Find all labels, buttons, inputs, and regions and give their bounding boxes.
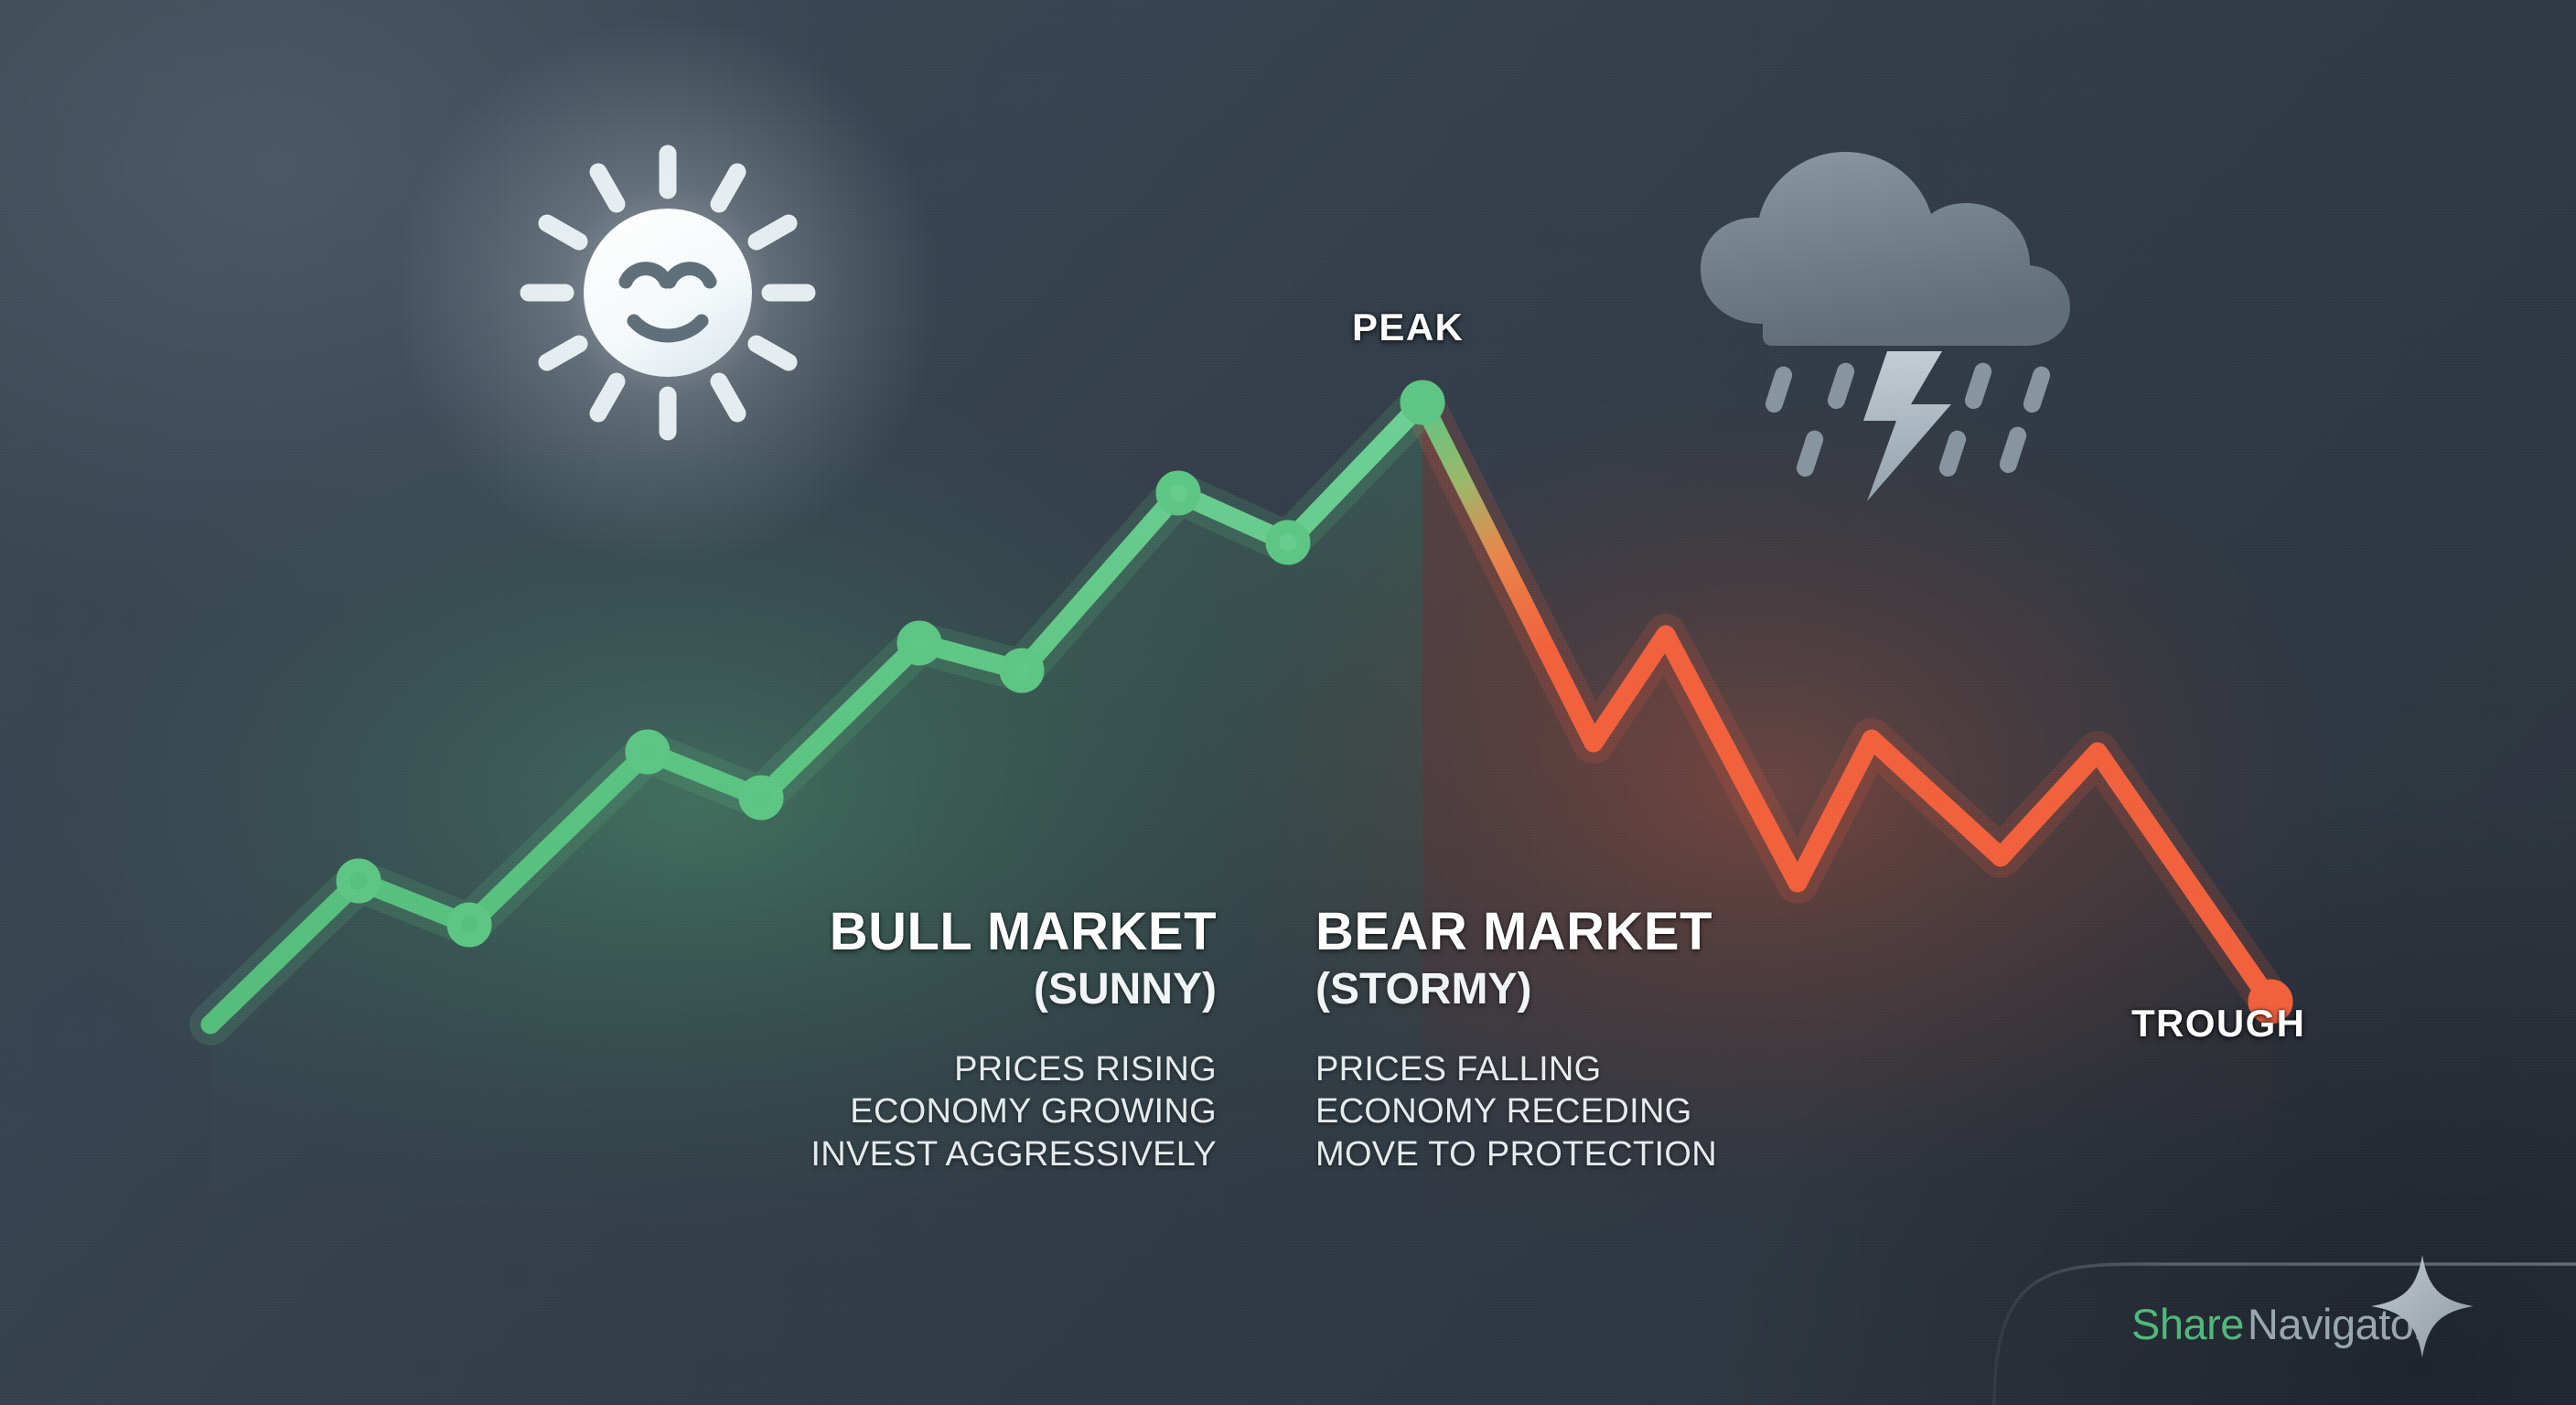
bull-market-heading: BULL MARKET xyxy=(0,906,1217,959)
bull-market-panel: BULL MARKET (SUNNY) PRICES RISING ECONOM… xyxy=(0,906,1261,1175)
bull-bullet-2: ECONOMY GROWING xyxy=(0,1090,1217,1132)
bear-market-heading: BEAR MARKET xyxy=(1315,906,2576,959)
infographic-canvas: PEAK TROUGH BULL MARKET (SUNNY) PRICES R… xyxy=(0,0,2576,1405)
bull-bullet-3: INVEST AGGRESSIVELY xyxy=(0,1133,1217,1175)
bear-bullet-3: MOVE TO PROTECTION xyxy=(1315,1133,2576,1175)
bear-market-bullets: PRICES FALLING ECONOMY RECEDING MOVE TO … xyxy=(1315,1048,2576,1175)
bear-market-panel: BEAR MARKET (STORMY) PRICES FALLING ECON… xyxy=(1315,906,2576,1175)
sharenavigator-logo[interactable]: Share Navigator xyxy=(2131,1299,2428,1349)
bear-bullet-1: PRICES FALLING xyxy=(1315,1048,2576,1090)
peak-label: PEAK xyxy=(1352,306,1464,349)
logo-text-share: Share xyxy=(2131,1299,2244,1349)
sparkle-star-icon xyxy=(2367,1251,2477,1371)
bull-market-bullets: PRICES RISING ECONOMY GROWING INVEST AGG… xyxy=(0,1048,1217,1175)
bear-bullet-2: ECONOMY RECEDING xyxy=(1315,1090,2576,1132)
bull-bullet-1: PRICES RISING xyxy=(0,1048,1217,1090)
bull-market-subheading: (SUNNY) xyxy=(0,968,1217,1012)
logo-frame-layer xyxy=(0,0,2576,1405)
bear-market-subheading: (STORMY) xyxy=(1315,968,2576,1012)
